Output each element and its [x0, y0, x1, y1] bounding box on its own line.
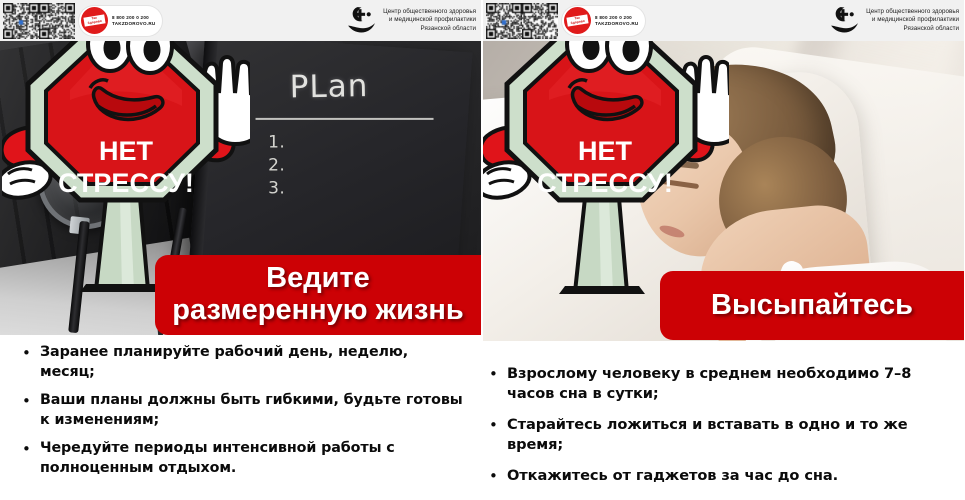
slide-header-band: Так Здорово 8 800 200 0 200 TAKZDOROVO.R…: [483, 0, 964, 41]
hotline-site: TAKZDOROVO.RU: [595, 21, 639, 27]
org-line-1: Центр общественного здоровья: [866, 8, 959, 17]
bullet-marker: •: [483, 466, 507, 486]
health-center-emblem-icon: [345, 4, 378, 37]
slide-deck: Так Здорово 8 800 200 0 200 TAKZDOROVO.R…: [0, 0, 965, 500]
list-item: • Откажитесь от гаджетов за час до сна.: [483, 466, 954, 486]
bullet-text: Взрослому человеку в среднем необходимо …: [507, 364, 954, 404]
chalk-underline: [256, 118, 434, 120]
takzdorovo-hotline-badge[interactable]: Так Здорово 8 800 200 0 200 TAKZDOROVO.R…: [79, 6, 162, 36]
chalk-item: 1.: [268, 131, 285, 154]
health-center-emblem-icon: [828, 4, 861, 37]
qr-code-icon[interactable]: [39, 3, 75, 39]
qr-code-icon[interactable]: [3, 3, 39, 39]
slide-header-band: Так Здорово 8 800 200 0 200 TAKZDOROVO.R…: [0, 0, 481, 41]
bullet-text: Заранее планируйте рабочий день, неделю,…: [40, 343, 467, 382]
slide-bullet-list: • Заранее планируйте рабочий день, недел…: [0, 343, 481, 487]
list-item: • Взрослому человеку в среднем необходим…: [483, 364, 954, 404]
slide-measured-life[interactable]: Так Здорово 8 800 200 0 200 TAKZDOROVO.R…: [0, 0, 481, 500]
qr-code-icon[interactable]: [522, 3, 558, 39]
org-line-3: Рязанской области: [866, 25, 959, 34]
organization-logo-block: Центр общественного здоровья и медицинск…: [345, 2, 478, 40]
banner-line-1: Высыпайтесь: [711, 290, 913, 322]
org-line-2: и медицинской профилактики: [383, 16, 476, 25]
takzdorovo-logo-icon: Так Здорово: [81, 7, 108, 34]
list-item: • Старайтесь ложиться и вставать в одно …: [483, 415, 954, 455]
takzdorovo-logo-icon: Так Здорово: [564, 7, 591, 34]
banner-line-2: размеренную жизнь: [172, 295, 463, 327]
list-item: • Заранее планируйте рабочий день, недел…: [22, 343, 467, 382]
slide-title-banner: Высыпайтесь: [660, 271, 964, 340]
bullet-marker: •: [483, 415, 507, 435]
chalk-item: 3.: [268, 177, 285, 200]
bullet-text: Старайтесь ложиться и вставать в одно и …: [507, 415, 954, 455]
hotline-site: TAKZDOROVO.RU: [112, 21, 156, 27]
chalk-item: 2.: [268, 154, 285, 177]
org-line-3: Рязанской области: [383, 25, 476, 34]
bullet-marker: •: [483, 364, 507, 384]
bullet-text: Чередуйте периоды интенсивной работы с п…: [40, 439, 467, 478]
bullet-marker: •: [22, 439, 40, 459]
chalk-plan-title: PLan: [289, 68, 368, 105]
bullet-text: Откажитесь от гаджетов за час до сна.: [507, 466, 838, 486]
list-item: • Ваши планы должны быть гибкими, будьте…: [22, 391, 467, 430]
takzdorovo-hotline-badge[interactable]: Так Здорово 8 800 200 0 200 TAKZDOROVO.R…: [562, 6, 645, 36]
slide-bullet-list: • Взрослому человеку в среднем необходим…: [483, 364, 964, 497]
organization-logo-block: Центр общественного здоровья и медицинск…: [828, 2, 961, 40]
qr-code-icon[interactable]: [486, 3, 522, 39]
slide-title-banner: Ведите размеренную жизнь: [155, 255, 481, 335]
chalk-list-items: 1. 2. 3.: [268, 131, 285, 200]
org-line-2: и медицинской профилактики: [866, 16, 959, 25]
banner-line-1: Ведите: [172, 263, 463, 295]
bullet-marker: •: [22, 343, 40, 363]
list-item: • Чередуйте периоды интенсивной работы с…: [22, 439, 467, 478]
org-line-1: Центр общественного здоровья: [383, 8, 476, 17]
bullet-marker: •: [22, 391, 40, 411]
bullet-text: Ваши планы должны быть гибкими, будьте г…: [40, 391, 467, 430]
slide-get-enough-sleep[interactable]: Так Здорово 8 800 200 0 200 TAKZDOROVO.R…: [483, 0, 964, 500]
